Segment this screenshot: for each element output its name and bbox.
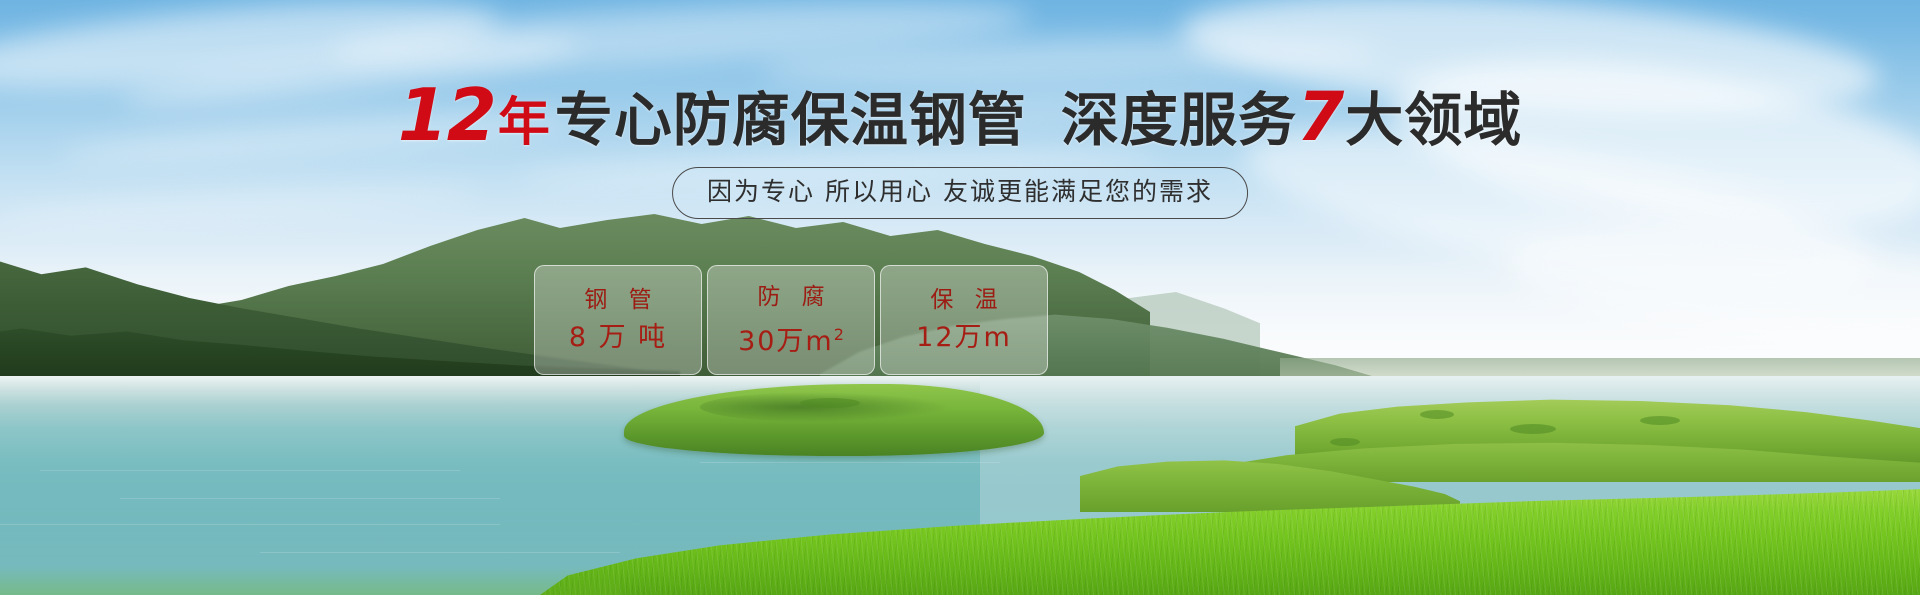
stat-card-title: 保 温 <box>923 287 1004 313</box>
hero-banner: 12年专心防腐保温钢管深度服务7大领域 因为专心 所以用心 友诚更能满足您的需求… <box>0 0 1920 595</box>
stat-card-value: 30万m2 <box>738 320 844 357</box>
stat-card-value-text: 30万m <box>738 326 834 357</box>
banner-content: 12年专心防腐保温钢管深度服务7大领域 因为专心 所以用心 友诚更能满足您的需求… <box>0 0 1920 595</box>
headline-years-unit: 年 <box>498 93 551 153</box>
headline-part-3: 大领域 <box>1345 86 1522 154</box>
subtitle-pill: 因为专心 所以用心 友诚更能满足您的需求 <box>672 167 1248 219</box>
stats-card-group: 钢 管 8 万 吨 防 腐 30万m2 保 温 12万m <box>534 265 1048 375</box>
headline: 12年专心防腐保温钢管深度服务7大领域 <box>0 84 1920 154</box>
stat-card-value-superscript: 2 <box>834 325 844 344</box>
stat-card-title: 钢 管 <box>577 287 658 313</box>
stat-card-value-text: 12万m <box>916 322 1012 353</box>
headline-years-number: 12 <box>398 73 496 157</box>
headline-highlight-number: 7 <box>1297 78 1345 157</box>
stat-card-insulation[interactable]: 保 温 12万m <box>880 265 1048 375</box>
stat-card-title: 防 腐 <box>750 284 831 310</box>
stat-card-value: 8 万 吨 <box>569 323 667 353</box>
headline-part-2: 深度服务 <box>1061 86 1297 154</box>
stat-card-value-text: 8 万 吨 <box>569 322 667 353</box>
stat-card-value: 12万m <box>916 323 1012 353</box>
headline-part-1: 专心防腐保温钢管 <box>555 86 1027 154</box>
stat-card-anticorrosion[interactable]: 防 腐 30万m2 <box>707 265 875 375</box>
stat-card-steel-pipe[interactable]: 钢 管 8 万 吨 <box>534 265 702 375</box>
